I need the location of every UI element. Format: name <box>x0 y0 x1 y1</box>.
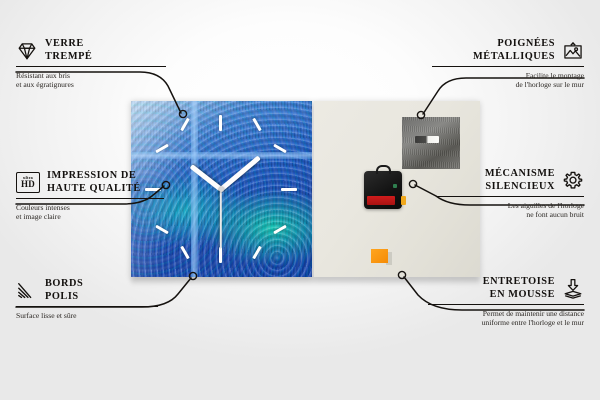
feature-desc-line2: ne font aucun bruit <box>436 210 584 220</box>
foam-spacer <box>371 249 388 263</box>
feature-rule <box>16 198 164 199</box>
hour-marker <box>219 115 222 131</box>
product-image <box>131 101 480 277</box>
feature-desc-line1: Les aiguilles de l'horloge <box>436 201 584 211</box>
gear-icon <box>562 170 584 192</box>
feature-title-line2: POLIS <box>45 291 83 304</box>
feature-desc-line1: Surface lisse et sûre <box>16 311 158 321</box>
metal-hanger-plate <box>402 117 460 169</box>
battery-terminal <box>401 196 406 205</box>
feature-title-line1: BORDS <box>45 278 83 291</box>
foam-spacer-icon <box>562 278 584 300</box>
ultra-hd-icon: ultra HD <box>16 172 40 193</box>
mechanism-contact <box>393 184 397 188</box>
feature-mecanisme-silencieux: MÉCANISME SILENCIEUX Les aiguilles de l'… <box>436 168 584 220</box>
feature-rule <box>16 66 166 67</box>
feature-title-line2: TREMPÉ <box>45 51 92 64</box>
hand-center-cap <box>219 187 224 192</box>
feature-desc-line2: et image claire <box>16 212 164 222</box>
feature-desc-line2: uniforme entre l'horloge et le mur <box>428 318 584 328</box>
feature-title-line1: POIGNÉES <box>473 38 555 51</box>
feature-title-line1: VERRE <box>45 38 92 51</box>
feature-title-line1: MÉCANISME <box>485 168 555 181</box>
feature-desc-line1: Couleurs intenses <box>16 203 164 213</box>
feature-title-line2: MÉTALLIQUES <box>473 51 555 64</box>
feature-title-line2: HAUTE QUALITÉ <box>47 183 141 196</box>
feature-impression-haute-qualite: ultra HD IMPRESSION DE HAUTE QUALITÉ Cou… <box>16 170 164 222</box>
feature-entretoise-en-mousse: ENTRETOISE EN MOUSSE Permet de maintenir… <box>428 276 584 328</box>
hanger-keyhole-slot <box>415 136 439 143</box>
mechanism-hook <box>376 165 391 174</box>
glass-glare <box>131 101 240 180</box>
feature-rule <box>428 304 584 305</box>
hour-marker <box>281 188 297 191</box>
feature-rule <box>16 306 158 307</box>
feature-title-line1: ENTRETOISE <box>483 276 555 289</box>
feature-title-line2: EN MOUSSE <box>483 289 555 302</box>
feature-rule <box>432 66 584 67</box>
battery <box>367 196 395 205</box>
picture-hanger-icon <box>562 40 584 62</box>
infographic-canvas: VERRE TREMPÉ Résistant aux bris et aux é… <box>0 0 600 400</box>
feature-poignees-metalliques: POIGNÉES MÉTALLIQUES Facilite le montage <box>432 38 584 90</box>
feature-desc-line1: Facilite le montage <box>432 71 584 81</box>
feature-verre-trempe: VERRE TREMPÉ Résistant aux bris et aux é… <box>16 38 166 90</box>
feature-desc-line1: Permet de maintenir une distance <box>428 309 584 319</box>
feature-title-line2: SILENCIEUX <box>485 181 555 194</box>
second-hand <box>220 189 222 247</box>
feature-desc-line2: de l'horloge sur le mur <box>432 80 584 90</box>
feature-bords-polis: BORDS POLIS Surface lisse et sûre <box>16 278 158 320</box>
diamond-icon <box>16 40 38 62</box>
feature-title-line1: IMPRESSION DE <box>47 170 141 183</box>
polished-edge-icon <box>16 280 38 302</box>
clock-mechanism <box>364 171 402 209</box>
hd-icon-hd-label: HD <box>21 180 35 189</box>
feature-rule <box>436 196 584 197</box>
feature-desc-line2: et aux égratignures <box>16 80 166 90</box>
feature-desc-line1: Résistant aux bris <box>16 71 166 81</box>
hour-marker <box>219 247 222 263</box>
